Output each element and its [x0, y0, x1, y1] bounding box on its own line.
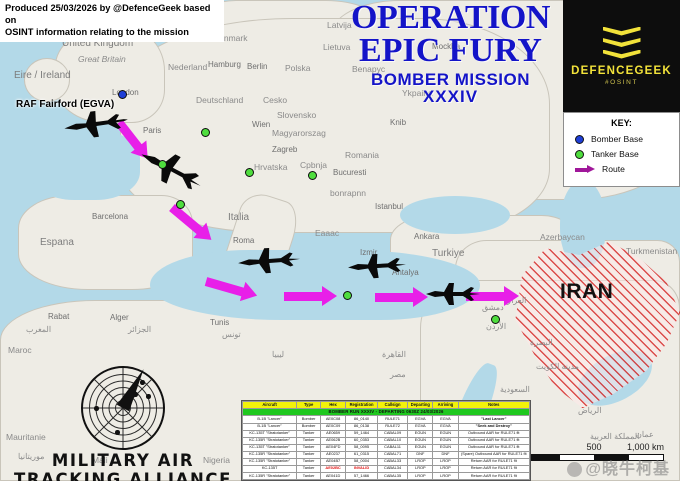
cell-hex: AE062B: [321, 437, 346, 444]
legend-arrow-icon: [575, 165, 595, 173]
cell-type: Tanker: [297, 472, 321, 479]
cell-callsign: RULE71: [377, 416, 407, 423]
cell-callsign: CABAL33: [377, 458, 407, 465]
cell-registration: 61_0315: [346, 451, 378, 458]
table-row[interactable]: B-1B "Lancer"BomberAE0C0986_0138RULE72EG…: [243, 423, 530, 430]
produced-credit-banner: Produced 25/03/2026 by @DefenceGeek base…: [0, 0, 224, 42]
weibo-watermark: @晓牛柯基: [567, 455, 670, 479]
tanker-base-marker[interactable]: [343, 291, 352, 300]
weibo-icon: [567, 462, 582, 477]
landmass-ireland: [24, 58, 70, 102]
scale-label-mid: 500: [586, 442, 601, 452]
scale-label-max: 1,000 km: [627, 442, 664, 452]
cell-registration: 59_1464: [346, 430, 378, 437]
tanker-base-marker[interactable]: [158, 160, 167, 169]
legend-item-label: Tanker Base: [591, 149, 639, 159]
cell-departing: EGUN: [408, 437, 433, 444]
cell-type: Tanker: [297, 465, 321, 472]
cell-type: Bomber: [297, 416, 321, 423]
cell-departing: EGUN: [408, 444, 433, 451]
cell-departing: EGUN: [408, 430, 433, 437]
cell-aircraft: KC-135R "Stratotanker": [243, 451, 297, 458]
defencegeek-logo: DEFENCEGEEK #OSINT: [563, 0, 680, 112]
bomber-base-marker[interactable]: [118, 90, 127, 99]
cell-aircraft: KC-135R "Stratotanker": [243, 458, 297, 465]
mata-name: MILITARY AIR TRACKING ALLIANCE: [4, 451, 242, 481]
table-col-registration: Registration: [346, 401, 378, 408]
cell-aircraft: B-1B "Lancer": [243, 423, 297, 430]
cell-arriving: EGUN: [433, 430, 458, 437]
cell-callsign: CABAL34: [377, 465, 407, 472]
tanker-base-marker[interactable]: [491, 315, 500, 324]
infographic-root: IRAN United KingdomGreat BritainEire / I…: [0, 0, 680, 481]
sea-black: [400, 196, 510, 234]
tanker-base-marker[interactable]: [176, 200, 185, 209]
cell-registration: 57_1466: [346, 472, 378, 479]
produced-line-2: OSINT information relating to the missio…: [5, 27, 220, 39]
legend-item-label: Bomber Base: [591, 134, 643, 144]
produced-line-1: Produced 25/03/2026 by @DefenceGeek base…: [5, 3, 220, 27]
defencegeek-tagline: #OSINT: [605, 79, 638, 86]
cell-notes: Return AAR for RULE71 flt: [458, 458, 529, 465]
aircraft-silhouette-3: [235, 244, 303, 277]
title-line-epic-fury: EPIC FURY: [318, 35, 583, 68]
table-row[interactable]: B-1B "Lancer"BomberAE0C0886_0140RULE71EG…: [243, 416, 530, 423]
cell-arriving: EGVA: [433, 416, 458, 423]
cell-departing: EGVA: [408, 423, 433, 430]
cell-callsign: CABAL11: [377, 444, 407, 451]
cell-notes: Outbound AAR for RULE71 flt: [458, 430, 529, 437]
cell-type: Tanker: [297, 430, 321, 437]
cell-registration: 58_0004: [346, 458, 378, 465]
cell-type: Tanker: [297, 444, 321, 451]
cell-aircraft: KC-135T: [243, 465, 297, 472]
cell-registration: 60_0353: [346, 437, 378, 444]
cell-departing: LROP: [408, 472, 433, 479]
cell-registration: 58_0095: [346, 444, 378, 451]
cell-registration: INVALID: [346, 465, 378, 472]
legend-dot-icon: [575, 135, 584, 144]
table-col-callsign: Callsign: [377, 401, 407, 408]
cell-hex: AE02BC: [321, 465, 346, 472]
cell-hex: AE0659: [321, 430, 346, 437]
table-row[interactable]: KC-135R "Stratotanker"TankerAE023761_031…: [243, 451, 530, 458]
table-col-notes: Notes: [458, 401, 529, 408]
legend-dot-icon: [575, 150, 584, 159]
route-arrow-4: [284, 287, 340, 306]
tanker-base-marker[interactable]: [308, 171, 317, 180]
cell-registration: 86_0138: [346, 423, 378, 430]
title-line-operation: OPERATION: [318, 2, 583, 35]
cell-aircraft: B-1B "Lancer": [243, 416, 297, 423]
cell-notes: Outbound AAR for RULE71 flt: [458, 444, 529, 451]
defencegeek-name: DEFENCEGEEK: [571, 65, 672, 77]
aircraft-silhouette-5: [424, 281, 482, 307]
cell-departing: EGVA: [408, 416, 433, 423]
table-row[interactable]: KC-135T "Stratotanker"TankerAE065959_146…: [243, 430, 530, 437]
cell-departing: DNF: [408, 451, 433, 458]
cell-aircraft: KC-135R "Stratotanker": [243, 472, 297, 479]
cell-hex: AE0237: [321, 451, 346, 458]
table-col-type: Type: [297, 401, 321, 408]
cell-arriving: EGVA: [433, 423, 458, 430]
cell-hex: AE04B7: [321, 458, 346, 465]
cell-callsign: CABAL71: [377, 451, 407, 458]
cell-arriving: LROP: [433, 458, 458, 465]
title-block: OPERATION EPIC FURY BOMBER MISSION XXXIV: [318, 2, 583, 105]
cell-arriving: LROP: [433, 465, 458, 472]
cell-type: Tanker: [297, 437, 321, 444]
chevron-icon: [603, 27, 641, 59]
legend-items: Bomber BaseTanker BaseRoute: [570, 134, 673, 174]
cell-notes: Return AAR for RULE71 flt: [458, 465, 529, 472]
legend-title: KEY:: [570, 118, 673, 128]
cell-type: Bomber: [297, 423, 321, 430]
cell-arriving: LROP: [433, 472, 458, 479]
table-mission-band-row: BOMBER RUN XXXIV - DEPARTING 0630Z 24/03…: [243, 408, 530, 416]
cell-aircraft: KC-135T "Stratotanker": [243, 430, 297, 437]
tanker-base-marker[interactable]: [245, 168, 254, 177]
cell-callsign: CABAL35: [377, 472, 407, 479]
cell-callsign: RULE72: [377, 423, 407, 430]
cell-notes: "Last Lancer": [458, 416, 529, 423]
table-col-aircraft: Aircraft: [243, 401, 297, 408]
cell-notes: "Seek and Destroy": [458, 423, 529, 430]
cell-arriving: DNF: [433, 451, 458, 458]
cell-notes: Outbound AAR for RULE71 flt: [458, 437, 529, 444]
watermark-text: @晓牛柯基: [585, 461, 670, 478]
table-col-arriving: Arriving: [433, 401, 458, 408]
cell-aircraft: KC-135R "Stratotanker": [243, 437, 297, 444]
map-legend: KEY: Bomber BaseTanker BaseRoute: [563, 112, 680, 187]
cell-hex: AE0C09: [321, 423, 346, 430]
cell-notes: Return AAR for RULE71 flt: [458, 472, 529, 479]
table-mission-band: BOMBER RUN XXXIV - DEPARTING 0630Z 24/03…: [243, 408, 530, 416]
cell-hex: AE0C08: [321, 416, 346, 423]
legend-item-route: Route: [575, 164, 673, 174]
legend-item-label: Route: [602, 164, 625, 174]
table-row[interactable]: KC-135R "Stratotanker"TankerAE04B758_000…: [243, 458, 530, 465]
table-col-departing: Departing: [408, 401, 433, 408]
table-header-row: AircraftTypeHexRegistrationCallsignDepar…: [243, 401, 530, 408]
cell-callsign: CABAL09: [377, 430, 407, 437]
cell-callsign: CABAL10: [377, 437, 407, 444]
route-arrow-5: [375, 288, 431, 307]
tanker-base-marker[interactable]: [201, 128, 210, 137]
legend-item-bomber-base: Bomber Base: [575, 134, 673, 144]
mata-logo: MILITARY AIR TRACKING ALLIANCE An #OSINT…: [4, 366, 242, 481]
table-body: B-1B "Lancer"BomberAE0C0886_0140RULE71EG…: [243, 416, 530, 480]
aircraft-silhouette-4: [345, 250, 408, 280]
cell-type: Tanker: [297, 451, 321, 458]
cell-departing: LROP: [408, 465, 433, 472]
table-row[interactable]: KC-135R "Stratotanker"TankerAE062B60_035…: [243, 437, 530, 444]
title-line-mission-number: XXXIV: [318, 89, 583, 105]
legend-item-tanker-base: Tanker Base: [575, 149, 673, 159]
mission-data-table: AircraftTypeHexRegistrationCallsignDepar…: [241, 400, 531, 481]
cell-notes: (Spare) Outbound AAR for RULE71 flt: [458, 451, 529, 458]
iran-country-label: IRAN: [560, 280, 613, 304]
cell-hex: AE041D: [321, 472, 346, 479]
cell-aircraft: KC-135T "Stratotanker": [243, 444, 297, 451]
cell-arriving: EGUN: [433, 437, 458, 444]
cell-arriving: EGUN: [433, 444, 458, 451]
table-row[interactable]: KC-135TTankerAE02BCINVALIDCABAL34LROPLRO…: [243, 465, 530, 472]
table-col-hex: Hex: [321, 401, 346, 408]
cell-registration: 86_0140: [346, 416, 378, 423]
radar-icon: [69, 366, 177, 452]
table-row[interactable]: KC-135R "Stratotanker"TankerAE041D57_146…: [243, 472, 530, 479]
table-row[interactable]: KC-135T "Stratotanker"TankerAE04FD58_009…: [243, 444, 530, 451]
cell-hex: AE04FD: [321, 444, 346, 451]
cell-type: Tanker: [297, 458, 321, 465]
cell-departing: LROP: [408, 458, 433, 465]
raf-fairford-label: RAF Fairford (EGVA): [16, 99, 114, 110]
